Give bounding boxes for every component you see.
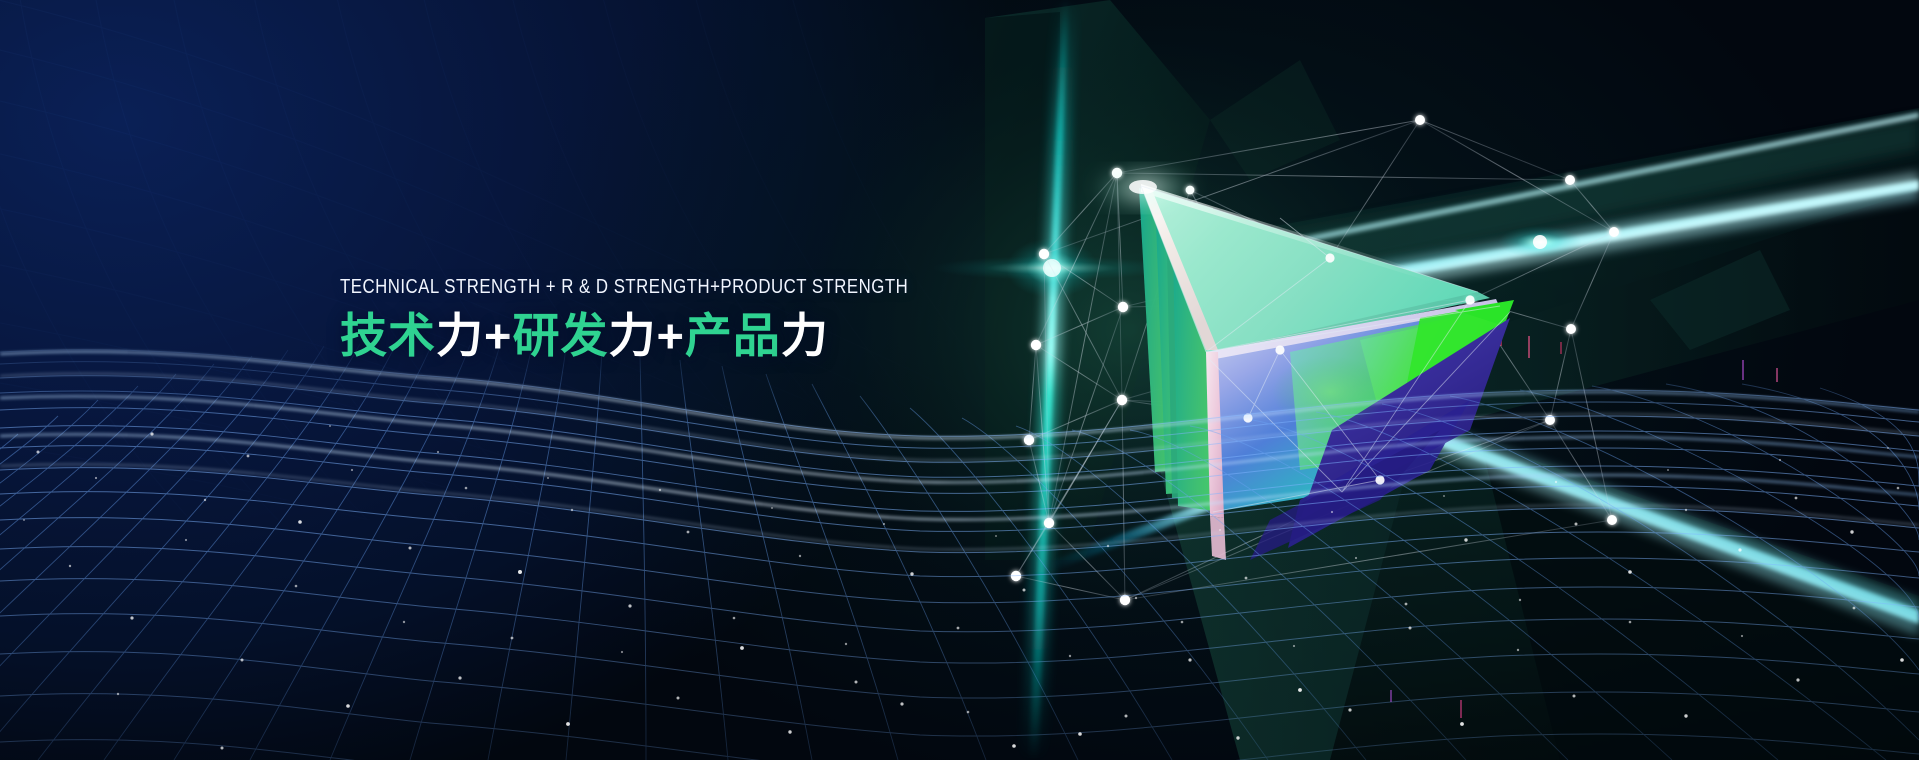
node-network-wireframe xyxy=(0,0,1919,760)
headline-segment: + xyxy=(656,309,684,362)
background-perspective-grid xyxy=(0,0,1040,520)
headline-segment: 技术 xyxy=(340,309,436,362)
light-streaks xyxy=(0,0,1919,760)
headline-segment: 力 xyxy=(436,309,484,362)
background-dark-slabs xyxy=(0,0,1919,760)
headline-segment: 力 xyxy=(608,309,656,362)
play-triangle-3d-logo xyxy=(0,0,1919,760)
headline-segment: 力 xyxy=(781,309,829,362)
headline-segment: 产品 xyxy=(685,309,781,362)
banner-text-block: TECHNICAL STRENGTH + R & D STRENGTH+PROD… xyxy=(340,276,1040,363)
terrain-particles xyxy=(0,360,1919,760)
headline-segment: + xyxy=(484,309,512,362)
page-title: 技术力+研发力+产品力 xyxy=(340,308,1040,363)
headline-segment: 研发 xyxy=(512,309,608,362)
wireframe-terrain-mesh xyxy=(0,340,1919,760)
hero-banner: TECHNICAL STRENGTH + R & D STRENGTH+PROD… xyxy=(0,0,1919,760)
banner-eyebrow: TECHNICAL STRENGTH + R & D STRENGTH+PROD… xyxy=(340,276,914,299)
